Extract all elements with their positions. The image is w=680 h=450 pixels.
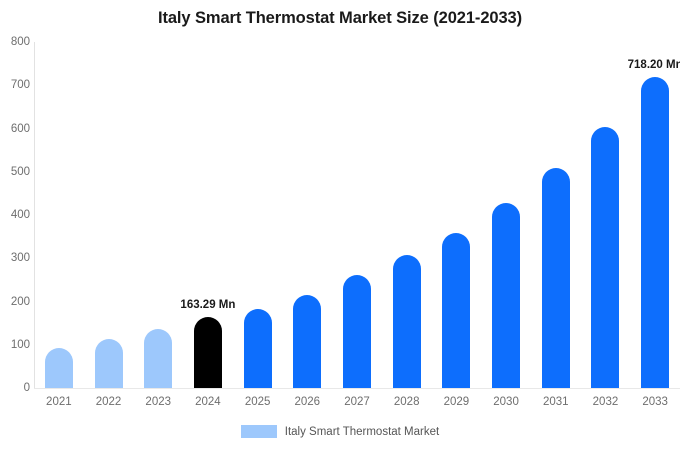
bar-fill-2028 [393, 255, 421, 388]
x-axis-tick-2024: 2024 [183, 396, 233, 408]
x-axis-tick-2023: 2023 [133, 396, 183, 408]
bar-value-label-2024: 163.29 Mn [176, 299, 240, 311]
bar-2021[interactable] [45, 42, 73, 388]
y-axis-tick-500: 500 [2, 166, 30, 178]
bar-fill-2030 [492, 203, 520, 388]
legend-swatch-italy-smart-thermostat-market [241, 425, 277, 438]
y-axis-tick-200: 200 [2, 296, 30, 308]
bar-2024[interactable] [194, 42, 222, 388]
chart-title: Italy Smart Thermostat Market Size (2021… [0, 9, 680, 28]
bar-fill-2023 [144, 329, 172, 388]
bar-2027[interactable] [343, 42, 371, 388]
x-axis-line [34, 388, 680, 389]
y-axis-tick-800: 800 [2, 36, 30, 48]
bar-fill-2021 [45, 348, 73, 388]
bar-fill-2031 [542, 168, 570, 388]
x-axis-tick-2022: 2022 [84, 396, 134, 408]
bar-fill-2026 [293, 295, 321, 388]
y-axis-tick-300: 300 [2, 252, 30, 264]
bar-fill-2024 [194, 317, 222, 388]
x-axis-tick-2025: 2025 [233, 396, 283, 408]
x-axis-tick-2029: 2029 [432, 396, 482, 408]
chart-container: Italy Smart Thermostat Market Size (2021… [0, 0, 680, 450]
plot-area [34, 42, 680, 388]
x-axis-tick-2031: 2031 [531, 396, 581, 408]
y-axis-tick-0: 0 [2, 382, 30, 394]
bar-2028[interactable] [393, 42, 421, 388]
y-axis-tick-400: 400 [2, 209, 30, 221]
bar-2030[interactable] [492, 42, 520, 388]
x-axis-tick-2021: 2021 [34, 396, 84, 408]
bar-2031[interactable] [542, 42, 570, 388]
bar-fill-2032 [591, 127, 619, 388]
x-axis-tick-2026: 2026 [282, 396, 332, 408]
bar-2033[interactable] [641, 42, 669, 388]
x-axis-tick-2030: 2030 [481, 396, 531, 408]
y-axis-tick-labels: 0100200300400500600700800 [0, 0, 30, 450]
y-axis-tick-600: 600 [2, 123, 30, 135]
legend-label-italy-smart-thermostat-market: Italy Smart Thermostat Market [285, 426, 439, 438]
bar-2023[interactable] [144, 42, 172, 388]
bar-fill-2027 [343, 275, 371, 388]
bar-fill-2022 [95, 339, 123, 388]
bar-2025[interactable] [244, 42, 272, 388]
x-axis-tick-2028: 2028 [382, 396, 432, 408]
bar-2022[interactable] [95, 42, 123, 388]
x-axis-tick-2033: 2033 [630, 396, 680, 408]
bar-2029[interactable] [442, 42, 470, 388]
y-axis-tick-100: 100 [2, 339, 30, 351]
bar-fill-2025 [244, 309, 272, 388]
bar-fill-2033 [641, 77, 669, 388]
x-axis-tick-2027: 2027 [332, 396, 382, 408]
bar-fill-2029 [442, 233, 470, 388]
x-axis-tick-2032: 2032 [581, 396, 631, 408]
bar-2032[interactable] [591, 42, 619, 388]
y-axis-tick-700: 700 [2, 79, 30, 91]
bar-value-label-2033: 718.20 Mn [623, 59, 680, 71]
bar-2026[interactable] [293, 42, 321, 388]
chart-legend: Italy Smart Thermostat Market [0, 425, 680, 438]
